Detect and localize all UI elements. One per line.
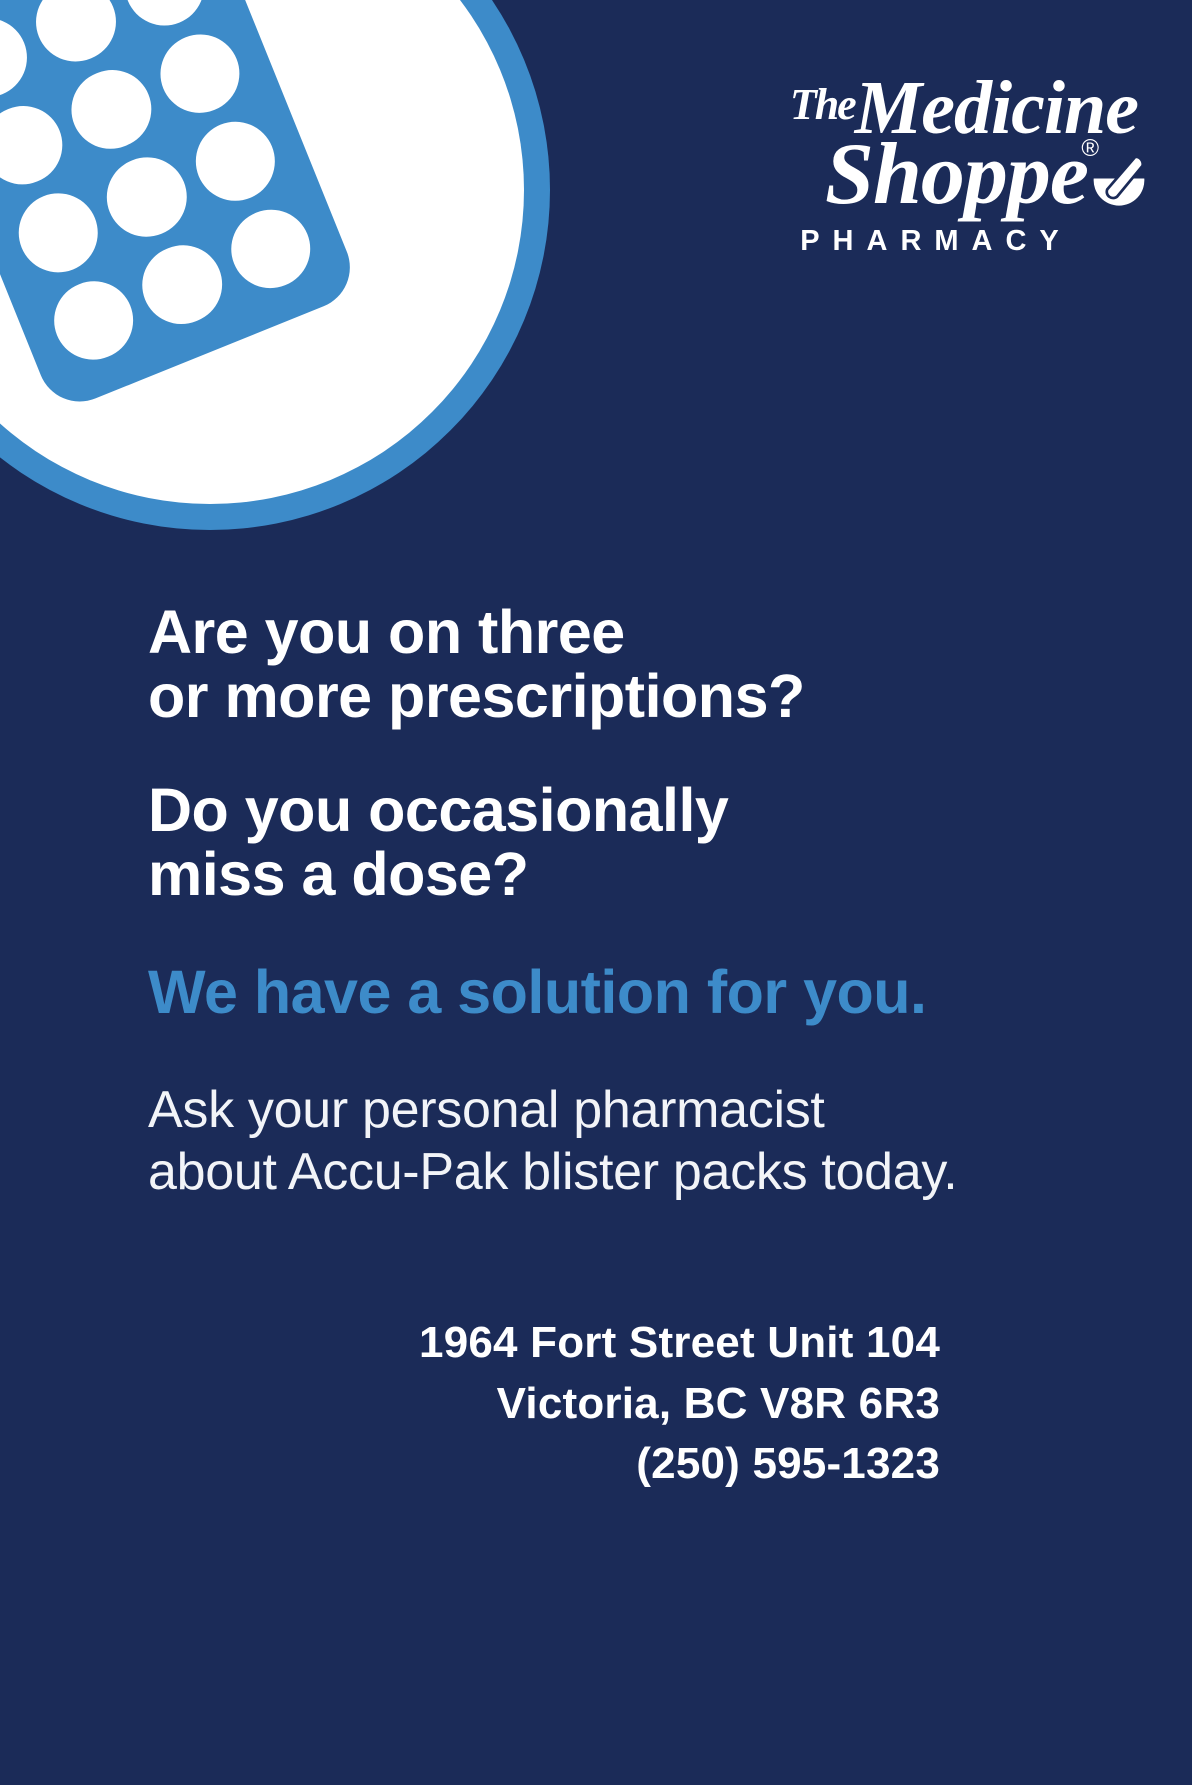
medicine-shoppe-logo: TheMedicine Shoppe ® PHARMACY: [714, 76, 1144, 258]
poster-content: Are you on three or more prescriptions? …: [148, 600, 1132, 1203]
address-street: 1964 Fort Street Unit 104: [419, 1313, 940, 1374]
pill-cell: [0, 6, 39, 109]
headline-1-line-2: or more prescriptions?: [148, 664, 1132, 728]
headline-2-line-2: miss a dose?: [148, 842, 1132, 906]
pill-cell: [131, 233, 234, 336]
logo-word-shoppe: Shoppe: [825, 126, 1088, 223]
logo-word-the: The: [790, 80, 855, 129]
pill-cell: [0, 94, 74, 197]
headline-2-line-1: Do you occasionally: [148, 778, 1132, 842]
pill-cell: [42, 269, 145, 372]
body-line-2: about Accu-Pak blister packs today.: [148, 1142, 1132, 1203]
address-phone[interactable]: (250) 595-1323: [419, 1434, 940, 1495]
address-city: Victoria, BC V8R 6R3: [419, 1374, 940, 1435]
headline-1-line-1: Are you on three: [148, 600, 1132, 664]
logo-word-pharmacy: PHARMACY: [714, 225, 1144, 258]
pill-cell: [60, 58, 163, 161]
accent-solution-line: We have a solution for you.: [148, 960, 1132, 1024]
pill-cell: [113, 0, 216, 37]
pill-cell: [95, 146, 198, 249]
body-copy: Ask your personal pharmacist about Accu-…: [148, 1080, 1132, 1203]
body-line-1: Ask your personal pharmacist: [148, 1080, 1132, 1141]
headline-missed-dose: Do you occasionally miss a dose?: [148, 778, 1132, 906]
pill-cell: [24, 0, 127, 73]
mortar-and-pestle-icon: [1090, 155, 1148, 211]
address-block: 1964 Fort Street Unit 104 Victoria, BC V…: [419, 1313, 940, 1495]
pill-cell: [219, 197, 322, 300]
headline-prescriptions: Are you on three or more prescriptions?: [148, 600, 1132, 728]
pill-cell: [7, 181, 110, 284]
pill-cell: [148, 22, 251, 125]
blister-pack-badge: [0, 0, 550, 530]
pharmacy-poster: TheMedicine Shoppe ® PHARMACY Are you on…: [0, 0, 1192, 1785]
logo-line-shoppe: Shoppe ®: [714, 135, 1144, 214]
pill-cell: [184, 110, 287, 213]
